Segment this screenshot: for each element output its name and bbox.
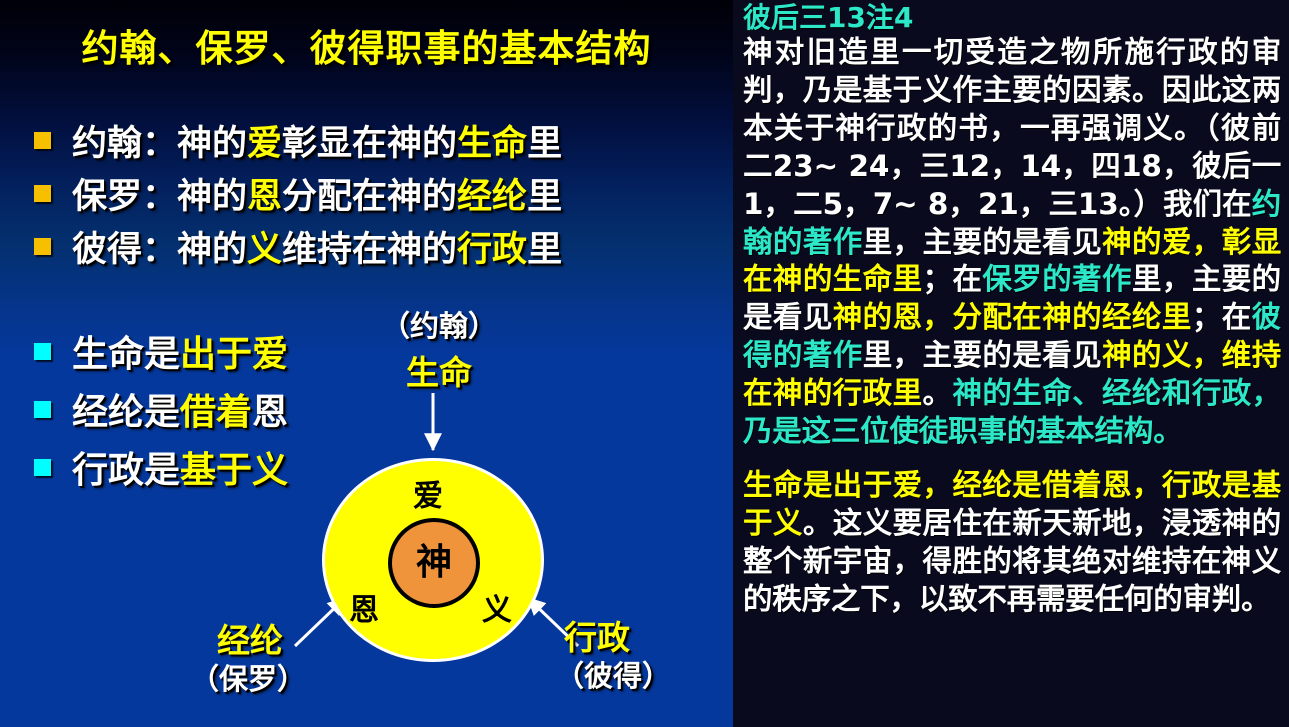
note-text-run: 里，主要的是看见 [863, 225, 1102, 259]
bullet-square-icon [34, 238, 51, 255]
page-title: 约翰、保罗、彼得职事的基本结构 [0, 18, 733, 72]
list-item-label: 彼得：神的义维持在神的行政里 [72, 221, 562, 272]
bullet-group-ministries: 约翰：神的爱彰显在神的生命里保罗：神的恩分配在神的经纶里彼得：神的义维持在神的行… [34, 114, 562, 273]
diagram-node-righteousness: 义 [482, 585, 512, 629]
diagram-label-administration: 行政 [564, 611, 630, 659]
note-text-run: 神的恩，分配在神的经纶里 [833, 300, 1192, 334]
note-panel: 彼后三13注4 神对旧造里一切受造之物所施行政的审判，乃是基于义作主要的因素。因… [733, 0, 1289, 727]
bullet-square-icon [34, 459, 51, 476]
note-text-run: 神对旧造里一切受造之物所施行政的审判，乃是基于义作主要的因素。因此这两本关于神行… [743, 35, 1281, 221]
bullet-square-icon [34, 401, 51, 418]
diagram-label-peter: （彼得） [555, 653, 671, 695]
diagram-node-love: 爱 [413, 471, 443, 515]
diagram-label-economy: 经纶 [217, 614, 283, 662]
note-text-run: 。这义要居住在新天新地，浸透神的整个新宇宙，得胜的将其绝对维持在神义的秩序之下，… [743, 506, 1281, 616]
diagram-center-label: 神 [416, 545, 452, 581]
list-item: 约翰：神的爱彰显在神的生命里 [34, 114, 562, 167]
diagram-label-life: 生命 [406, 346, 472, 394]
slide-root: 约翰、保罗、彼得职事的基本结构 约翰：神的爱彰显在神的生命里保罗：神的恩分配在神… [0, 0, 1289, 727]
ministry-structure-diagram: （约翰） 生命 经纶 （保罗） 行政 （彼得） 爱 恩 义 神 [180, 298, 733, 727]
diagram-inner-circle: 神 [388, 518, 480, 608]
list-item-label: 约翰：神的爱彰显在神的生命里 [72, 115, 562, 166]
diagram-label-paul: （保罗） [190, 656, 306, 698]
note-text-run: ；在 [1192, 300, 1252, 334]
note-text-run: 里，主要的是看见 [863, 338, 1102, 372]
list-item-label: 保罗：神的恩分配在神的经纶里 [72, 168, 562, 219]
note-text-run: 。 [923, 376, 953, 410]
bullet-square-icon [34, 185, 51, 202]
note-heading: 彼后三13注4 [743, 4, 1281, 32]
note-text-run: ；在 [923, 262, 983, 296]
note-text-run: 保罗的著作 [982, 262, 1132, 296]
diagram-label-john: （约翰） [381, 303, 497, 345]
note-paragraph-2: 生命是出于爱，经纶是借着恩，行政是基于义。这义要居住在新天新地，浸透神的整个新宇… [743, 467, 1281, 619]
bullet-square-icon [34, 343, 51, 360]
list-item: 彼得：神的义维持在神的行政里 [34, 220, 562, 273]
left-panel: 约翰、保罗、彼得职事的基本结构 约翰：神的爱彰显在神的生命里保罗：神的恩分配在神… [0, 0, 733, 727]
diagram-outer-circle: 爱 恩 义 神 [322, 458, 544, 662]
diagram-node-grace: 恩 [349, 585, 379, 629]
bullet-square-icon [34, 132, 51, 149]
list-item: 保罗：神的恩分配在神的经纶里 [34, 167, 562, 220]
note-paragraph-1: 神对旧造里一切受造之物所施行政的审判，乃是基于义作主要的因素。因此这两本关于神行… [743, 34, 1281, 451]
